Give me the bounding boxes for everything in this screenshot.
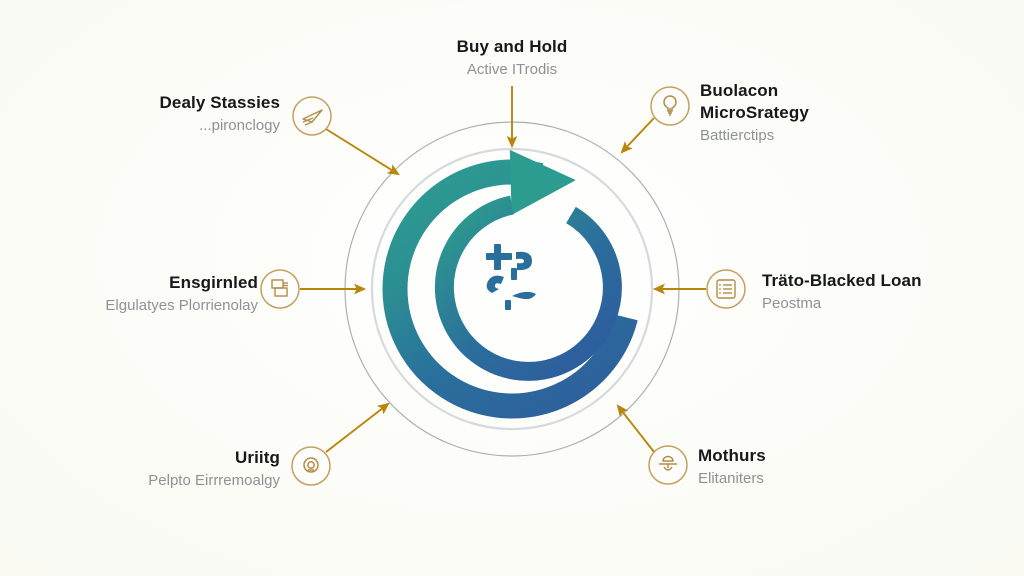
node-label-bitcoin-microstrategy: Buolacon MicroSrategy Battierctips — [700, 80, 1000, 145]
node-title-buy-and-hold: Buy and Hold — [392, 36, 632, 58]
node-badges[interactable] — [261, 87, 745, 485]
badge-mining[interactable] — [292, 447, 330, 485]
node-sub-deal-strategies: ...pironclogy — [16, 116, 280, 135]
node-sub-mining: Pelpto Eirrremoalgy — [56, 471, 280, 490]
connector-bitcoin-microstrategy — [622, 118, 654, 152]
node-title-mining: Uriitg — [56, 447, 280, 469]
node-title-treasury-loan: Träto-Blacked Loan — [762, 270, 1024, 292]
badge-motherships[interactable] — [649, 446, 687, 484]
badge-engineered[interactable] — [261, 270, 299, 308]
node-label-buy-and-hold: Buy and Hold Active ITrodis — [392, 36, 632, 79]
diagram-canvas: Dealy Stassies ...pironclogy Buy and Hol… — [0, 0, 1024, 576]
connector-mining — [326, 404, 388, 452]
node-label-engineered: Ensgirnled Elgulatyes Plorrienolay — [10, 272, 258, 315]
node-title-bitcoin-microstrategy-line1: Buolacon — [700, 80, 1000, 102]
node-label-deal-strategies: Dealy Stassies ...pironclogy — [16, 92, 280, 135]
node-title-deal-strategies: Dealy Stassies — [16, 92, 280, 114]
node-sub-bitcoin-microstrategy: Battierctips — [700, 126, 1000, 145]
node-sub-engineered: Elgulatyes Plorrienolay — [10, 296, 258, 315]
node-title-bitcoin-microstrategy: MicroSrategy — [700, 102, 1000, 124]
node-title-motherships: Mothurs — [698, 445, 958, 467]
connector-deal-strategies — [326, 129, 398, 174]
node-sub-treasury-loan: Peostma — [762, 294, 1024, 313]
node-sub-motherships: Elitaniters — [698, 469, 958, 488]
node-label-motherships: Mothurs Elitaniters — [698, 445, 958, 488]
node-sub-buy-and-hold: Active ITrodis — [392, 60, 632, 79]
node-title-engineered: Ensgirnled — [10, 272, 258, 294]
connector-motherships — [618, 406, 654, 452]
badge-deal-strategies[interactable] — [293, 97, 331, 135]
bitcoin-glyph — [486, 244, 536, 310]
node-label-treasury-loan: Träto-Blacked Loan Peostma — [762, 270, 1024, 313]
badge-treasury-loan[interactable] — [707, 270, 745, 308]
badge-bitcoin-microstrategy[interactable] — [651, 87, 689, 125]
node-label-mining: Uriitg Pelpto Eirrremoalgy — [56, 447, 280, 490]
